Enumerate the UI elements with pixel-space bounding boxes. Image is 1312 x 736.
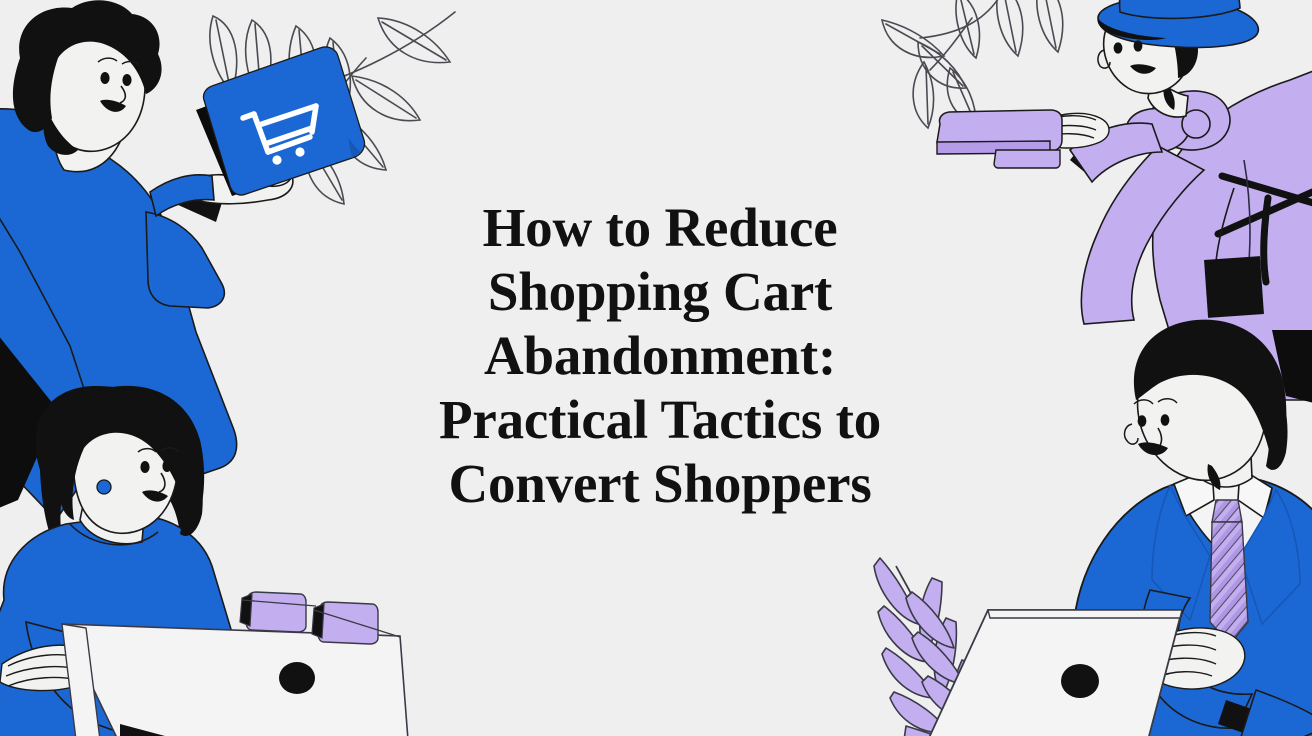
title-line-2: Shopping Cart	[380, 260, 940, 324]
bottom-right-tie	[1210, 522, 1248, 644]
title-line-3: Abandonment:	[380, 324, 940, 388]
title-line-4: Practical Tactics to	[380, 388, 940, 452]
hero-banner: How to Reduce Shopping Cart Abandonment:…	[0, 0, 1312, 736]
page-title: How to Reduce Shopping Cart Abandonment:…	[380, 196, 940, 516]
bottom-right-laptop	[928, 610, 1182, 736]
title-line-1: How to Reduce	[380, 196, 940, 260]
bottom-right-tie-knot	[1212, 500, 1242, 522]
bottom-right-laptop-camera	[1061, 664, 1099, 698]
bottom-right-ear	[1125, 424, 1138, 444]
bottom-right-eye-right	[1161, 414, 1170, 426]
title-line-5: Convert Shoppers	[380, 452, 940, 516]
bottom-right-eye-left	[1138, 415, 1147, 427]
